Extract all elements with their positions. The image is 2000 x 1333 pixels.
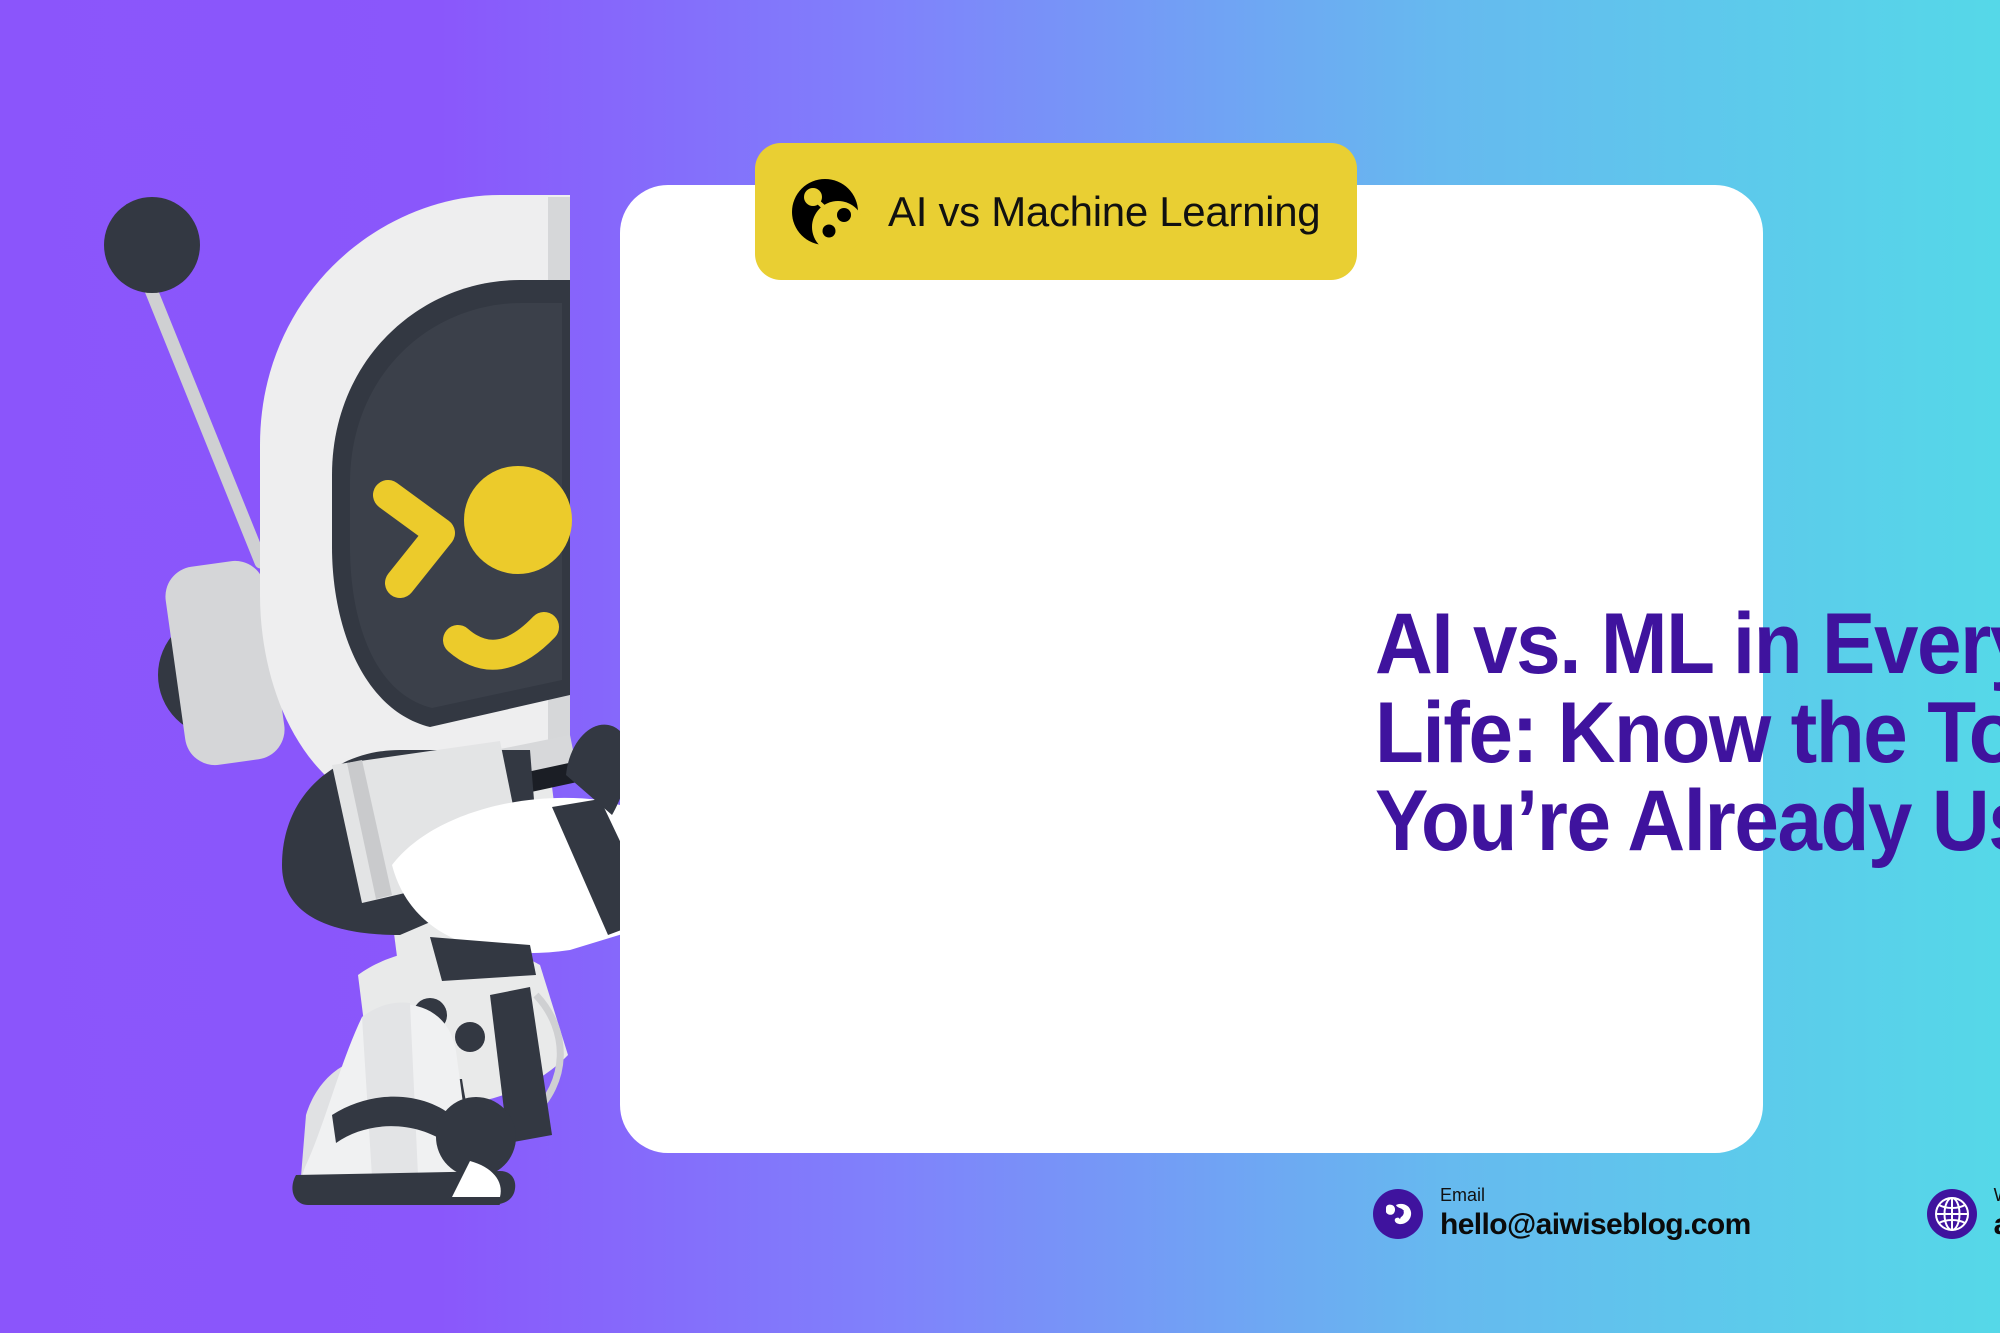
contact-website-label: Website:	[1994, 1185, 2000, 1206]
page-title: AI vs. ML in Everyday Life: Know the Too…	[1375, 600, 2000, 866]
content-card: AI vs. ML in Everyday Life: Know the Too…	[620, 185, 1763, 1153]
antenna-icon	[104, 197, 269, 570]
contact-website[interactable]: Website: aiwiseblog.com	[1926, 1185, 2000, 1242]
contact-email-label: Email	[1440, 1185, 1751, 1206]
poster-canvas: AI vs. ML in Everyday Life: Know the Too…	[0, 0, 2000, 1333]
contact-footer: Email hello@aiwiseblog.com	[1372, 1185, 2000, 1242]
hip-dot	[455, 1022, 485, 1052]
globe-icon	[1926, 1188, 1978, 1240]
contact-email[interactable]: Email hello@aiwiseblog.com	[1372, 1185, 1751, 1242]
contact-email-value: hello@aiwiseblog.com	[1440, 1208, 1751, 1243]
ai-network-logo-icon	[788, 175, 862, 249]
round-eye-icon	[464, 466, 572, 574]
category-badge-label: AI vs Machine Learning	[888, 188, 1320, 236]
envelope-icon	[1372, 1188, 1424, 1240]
category-badge[interactable]: AI vs Machine Learning	[755, 143, 1357, 280]
contact-website-value: aiwiseblog.com	[1994, 1208, 2000, 1243]
